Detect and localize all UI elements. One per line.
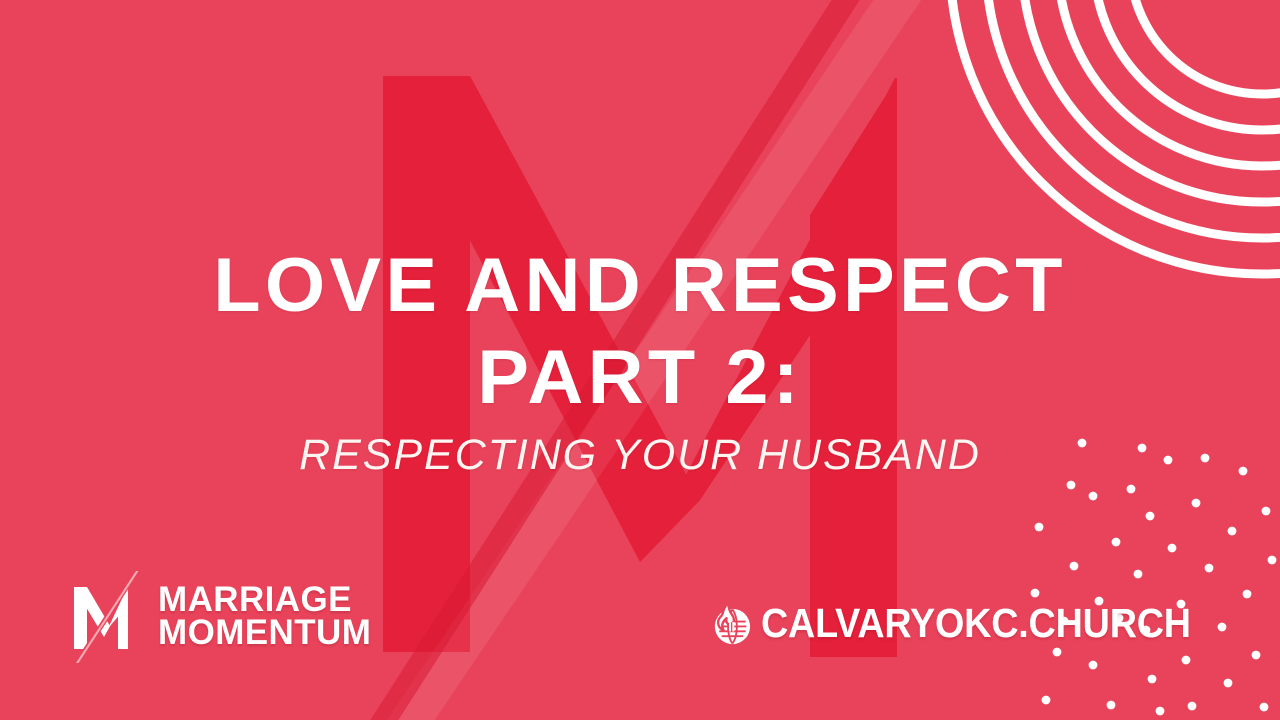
title-block: LOVE AND RESPECT PART 2: RESPECTING YOUR… <box>0 248 1280 477</box>
concentric-arcs-icon <box>950 0 1280 274</box>
title-line-2: PART 2: <box>0 340 1280 416</box>
marriage-momentum-wordmark: MARRIAGE MOMENTUM <box>158 584 371 650</box>
marriage-momentum-m-monogram-icon <box>70 571 144 663</box>
marriage-momentum-logo: MARRIAGE MOMENTUM <box>70 571 371 663</box>
calvary-flame-globe-icon <box>707 600 754 647</box>
church-url-text[interactable]: CALVARYOKC.CHURCH <box>761 600 1191 647</box>
scattered-dot-grid-icon <box>1031 439 1277 716</box>
calvary-church-logo[interactable]: CALVARYOKC.CHURCH <box>707 600 1228 647</box>
sermon-title-slide: LOVE AND RESPECT PART 2: RESPECTING YOUR… <box>0 0 1280 720</box>
brand-word-bottom: MOMENTUM <box>158 617 371 650</box>
subtitle-line: RESPECTING YOUR HUSBAND <box>0 434 1280 477</box>
title-line-1: LOVE AND RESPECT <box>0 248 1280 324</box>
